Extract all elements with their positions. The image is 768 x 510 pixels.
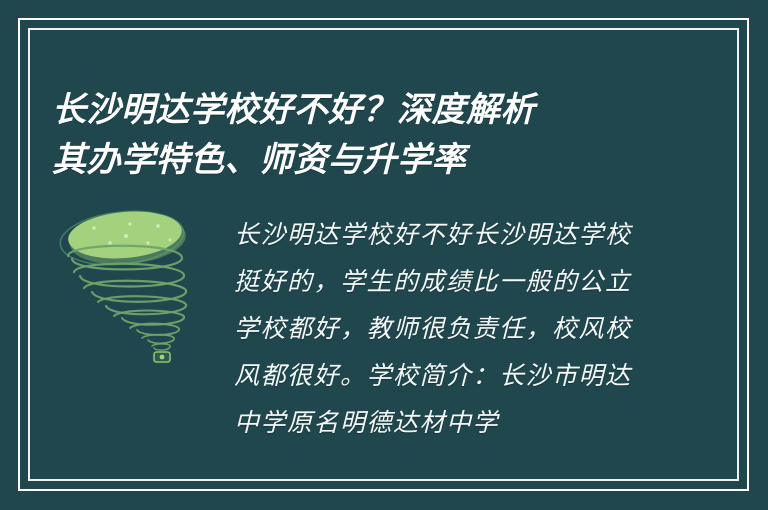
poster-canvas: 长沙明达学校好不好？深度解析 其办学特色、师资与升学率 — [0, 0, 768, 510]
article-body: 长沙明达学校好不好长沙明达学校挺好的，学生的成绩比一般的公立学校都好，教师很负责… — [234, 212, 646, 447]
tornado-illustration — [52, 196, 204, 368]
page-title: 长沙明达学校好不好？深度解析 其办学特色、师资与升学率 — [52, 85, 652, 185]
article-body-text: 长沙明达学校好不好长沙明达学校挺好的，学生的成绩比一般的公立学校都好，教师很负责… — [234, 222, 632, 437]
money-bill-icon — [154, 352, 170, 362]
